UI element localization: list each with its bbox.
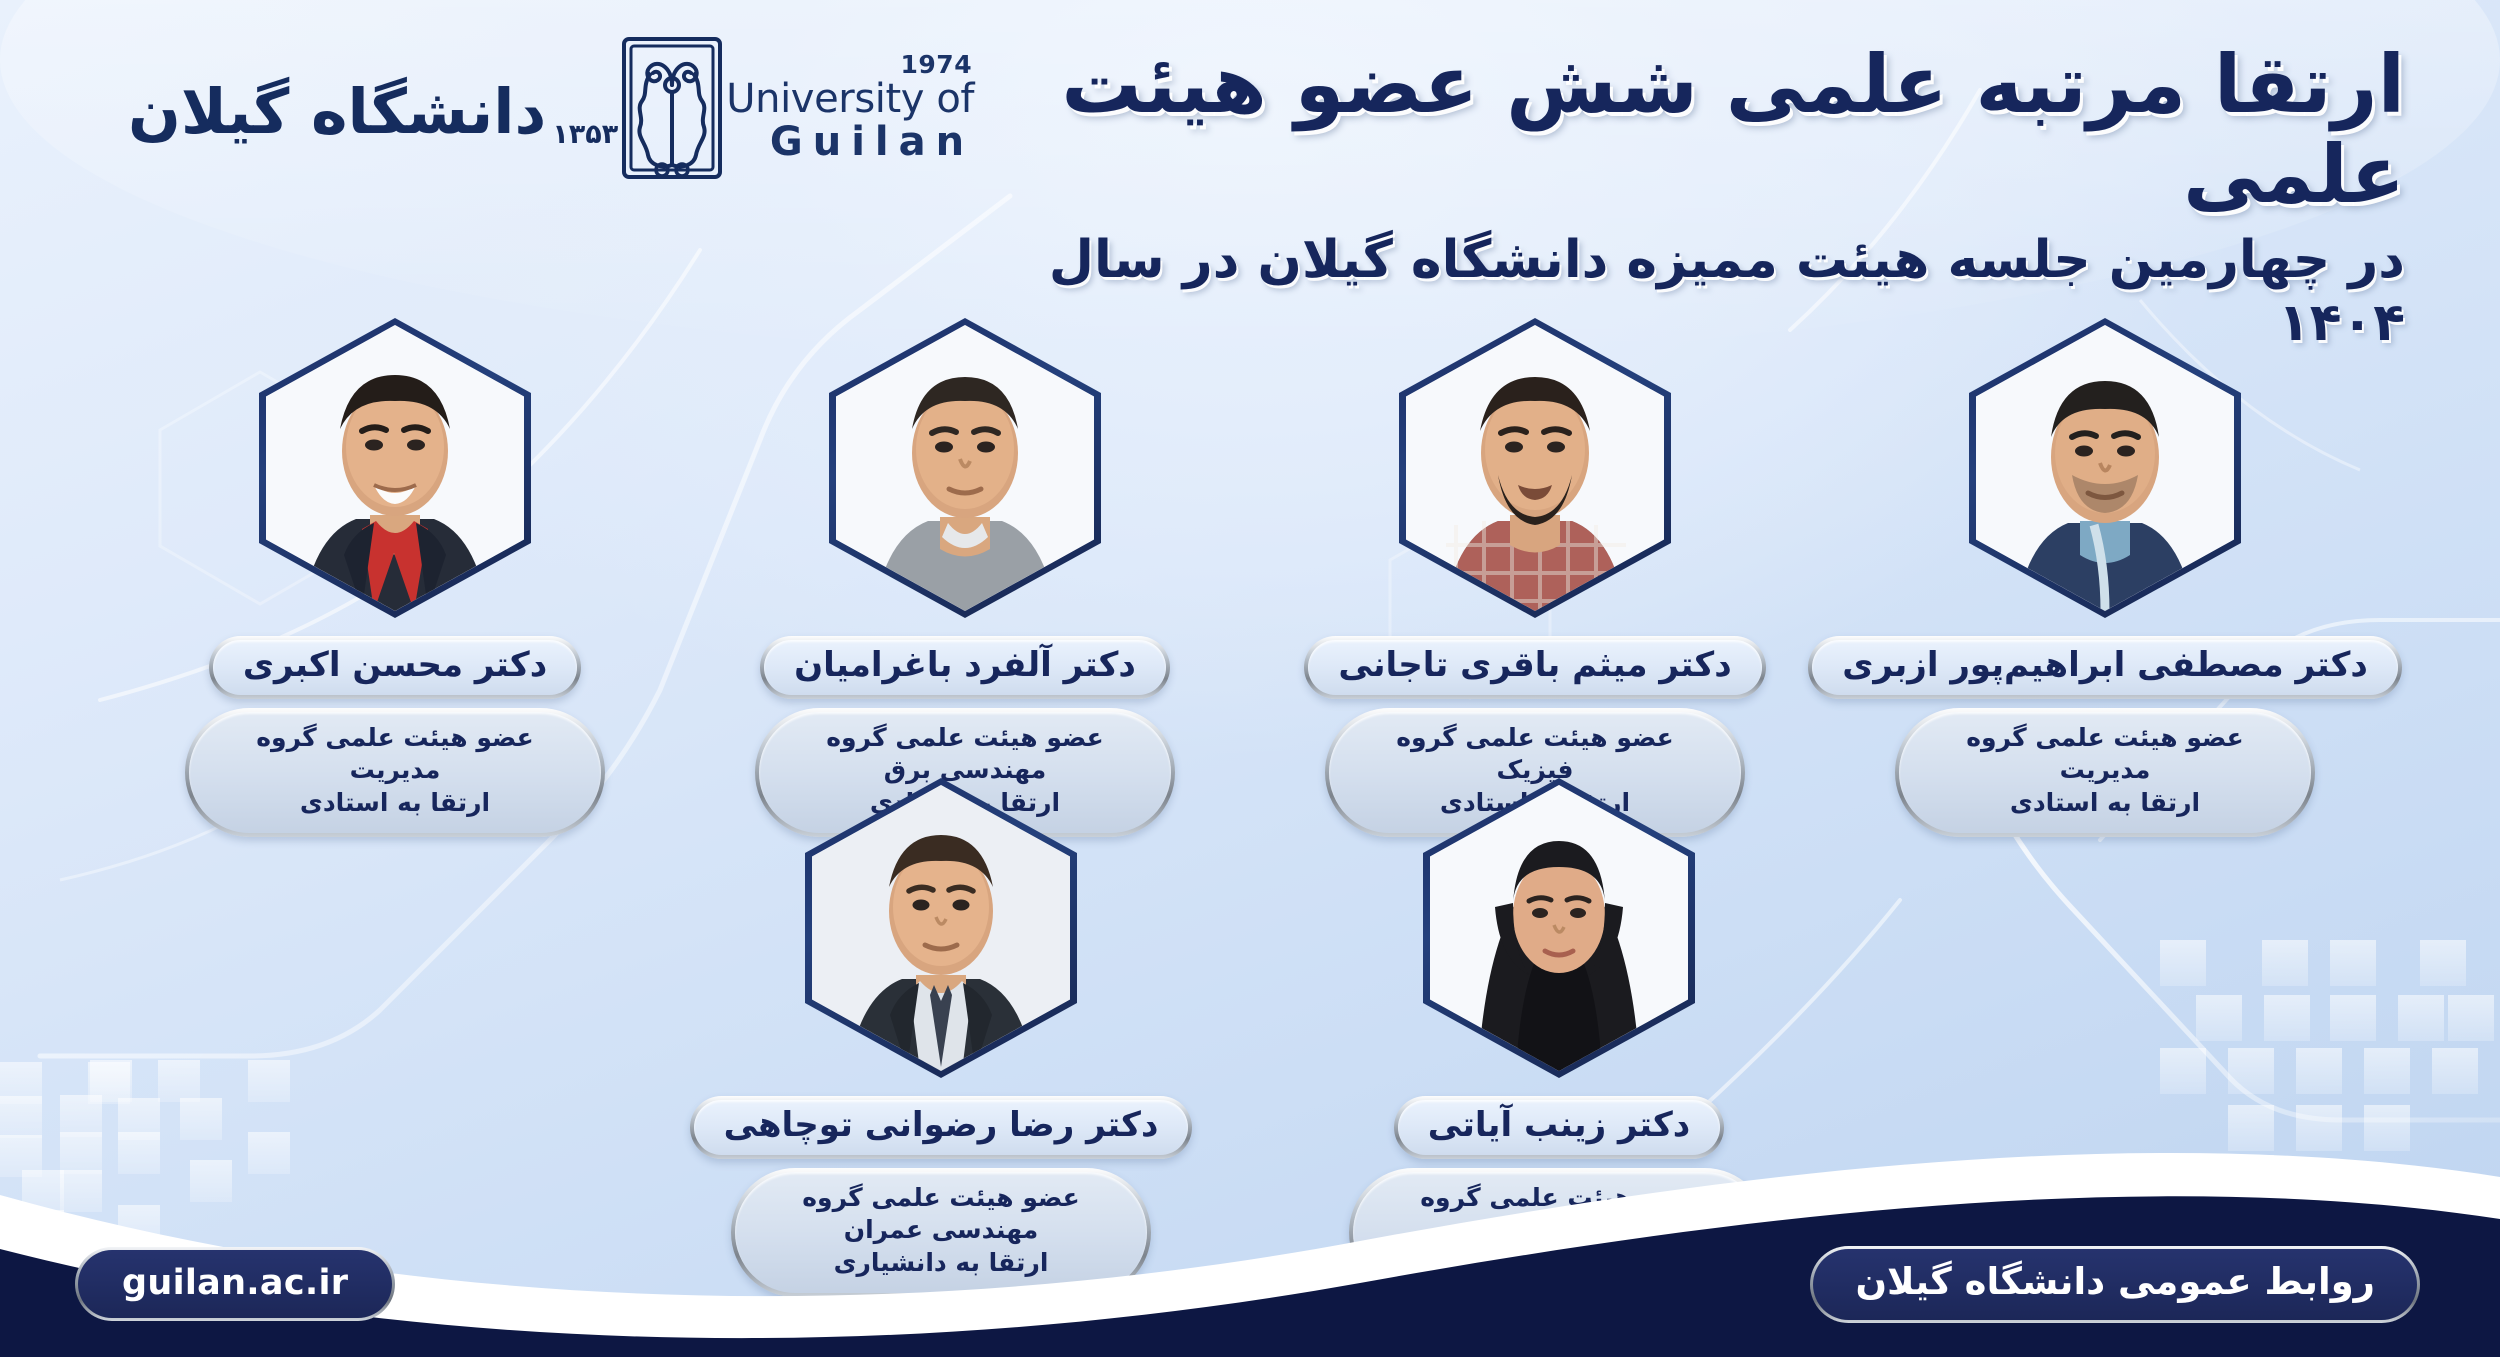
logo-name-fa: دانشگاه گیلان (128, 81, 546, 143)
university-logo: 1974 University of Guilan ۱۳۵۳ دانشگاه گ… (118, 38, 988, 178)
person-role-line1: عضو هیئت علمی گروه مدیریت (215, 722, 575, 787)
website-url-pill[interactable]: guilan.ac.ir (75, 1247, 395, 1321)
logo-year-en: 1974 (901, 52, 973, 77)
person-role-line1: عضو هیئت علمی گروه فیزیک (1355, 722, 1715, 787)
person-name: دکتر مصطفی ابراهیم‌پور ازبری (1808, 636, 2402, 699)
page-title: ارتقا مرتبه علمی شش عضو هیئت علمی (985, 40, 2405, 219)
logo-name-en-line2: Guilan (770, 121, 974, 164)
logo-english-text: 1974 University of Guilan (726, 52, 988, 165)
person-card: دکتر محسن اکبری عضو هیئت علمی گروه مدیری… (175, 318, 615, 837)
photo-frame (829, 318, 1101, 618)
person-name: دکتر میثم باقری تاجانی (1304, 636, 1765, 699)
logo-year-fa: ۱۳۵۳ (552, 121, 618, 148)
person-name: دکتر آلفرد باغرامیان (760, 636, 1170, 699)
photo-frame (1969, 318, 2241, 618)
person-card: دکتر میثم باقری تاجانی عضو هیئت علمی گرو… (1315, 318, 1755, 837)
logo-persian-text: ۱۳۵۳ دانشگاه گیلان (118, 77, 618, 139)
person-role-line1: عضو هیئت علمی گروه مهندسی برق (785, 722, 1145, 787)
guilan-university-emblem-icon (618, 33, 726, 183)
people-row-top: دکتر مصطفی ابراهیم‌پور ازبری عضو هیئت عل… (0, 318, 2500, 837)
person-role-line1: عضو هیئت علمی گروه مدیریت (1925, 722, 2285, 787)
photo-frame (1399, 318, 1671, 618)
poster-canvas: 1974 University of Guilan ۱۳۵۳ دانشگاه گ… (0, 0, 2500, 1357)
title-block: ارتقا مرتبه علمی شش عضو هیئت علمی در چها… (985, 40, 2405, 354)
person-card: دکتر مصطفی ابراهیم‌پور ازبری عضو هیئت عل… (1885, 318, 2325, 837)
poster-header: 1974 University of Guilan ۱۳۵۳ دانشگاه گ… (0, 0, 2500, 290)
logo-name-en-line1: University of (726, 79, 974, 120)
person-card: دکتر آلفرد باغرامیان عضو هیئت علمی گروه … (745, 318, 1185, 837)
public-relations-pill: روابط عمومی دانشگاه گیلان (1810, 1246, 2420, 1323)
photo-frame (259, 318, 531, 618)
person-name: دکتر محسن اکبری (209, 636, 581, 699)
